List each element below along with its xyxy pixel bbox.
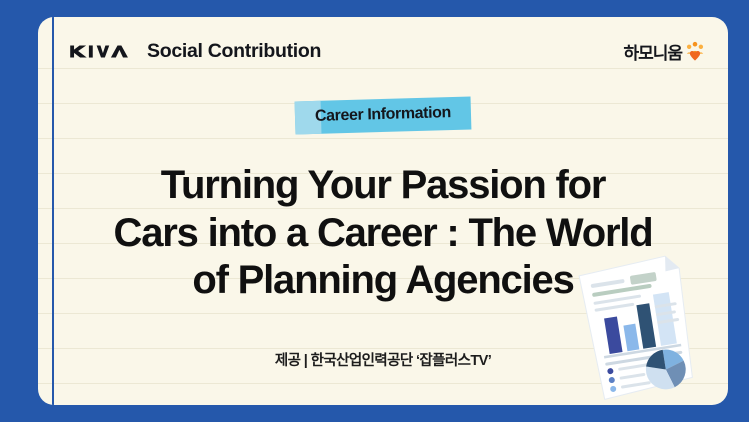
kia-logo xyxy=(68,43,134,60)
category-badge: Career Information xyxy=(295,97,472,135)
badge-row: Career Information xyxy=(38,99,728,132)
partner-name: 하모니움 xyxy=(623,39,682,64)
badge-label: Career Information xyxy=(315,104,451,125)
brand-text: Social Contribution xyxy=(147,40,321,63)
report-document-illustration xyxy=(560,253,720,403)
brand-lockup: Social Contribution xyxy=(68,40,321,63)
slide-canvas: Social Contribution 하모니움 Career Informat… xyxy=(0,0,749,422)
people-group-icon xyxy=(684,40,706,62)
margin-line xyxy=(52,17,54,405)
partner-lockup: 하모니움 xyxy=(623,39,706,64)
notebook-paper-card: Social Contribution 하모니움 Career Informat… xyxy=(38,17,728,405)
header: Social Contribution 하모니움 xyxy=(68,33,706,69)
title-line-1: Turning Your Passion for xyxy=(78,162,688,210)
title-line-2: Cars into a Career : The World xyxy=(78,210,688,258)
